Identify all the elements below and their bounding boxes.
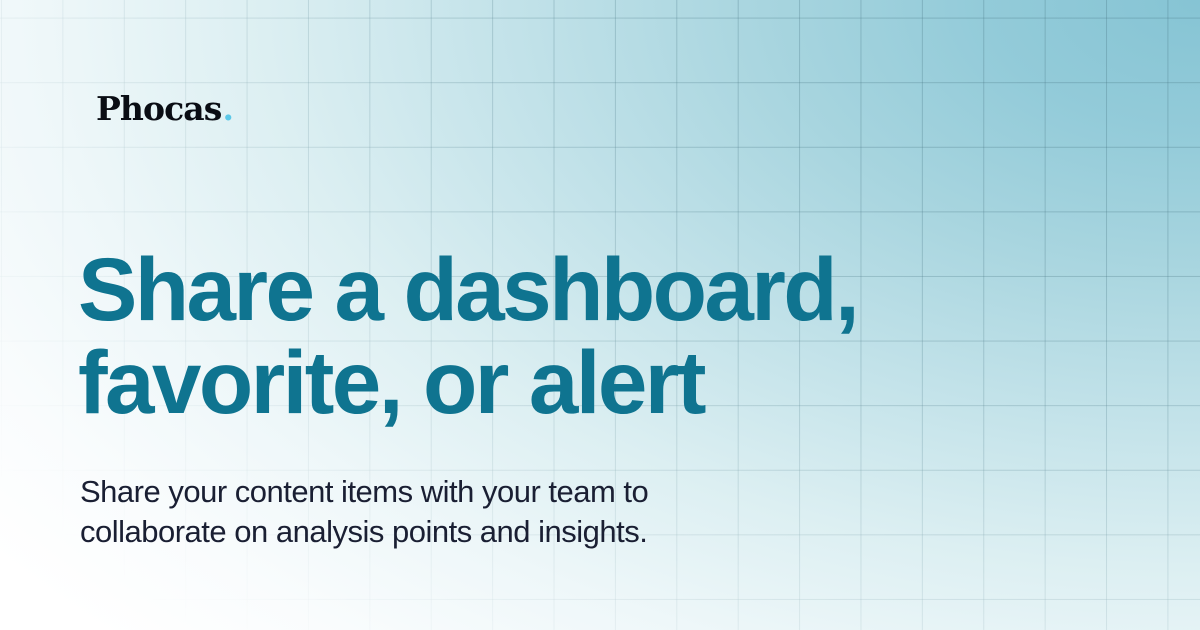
subheadline-line-2: collaborate on analysis points and insig… — [80, 512, 870, 552]
page-title: Share a dashboard, favorite, or alert — [78, 243, 1058, 429]
phocas-logo: Phocas . — [96, 92, 234, 125]
subheadline-line-1: Share your content items with your team … — [80, 472, 870, 512]
headline-line-1: Share a dashboard, — [78, 243, 1058, 336]
page-subtitle: Share your content items with your team … — [80, 472, 870, 552]
logo-dot-icon: . — [222, 92, 234, 125]
banner-canvas: Phocas . Share a dashboard, favorite, or… — [0, 0, 1200, 630]
logo-wordmark: Phocas — [96, 92, 221, 125]
headline-line-2: favorite, or alert — [78, 336, 1058, 429]
